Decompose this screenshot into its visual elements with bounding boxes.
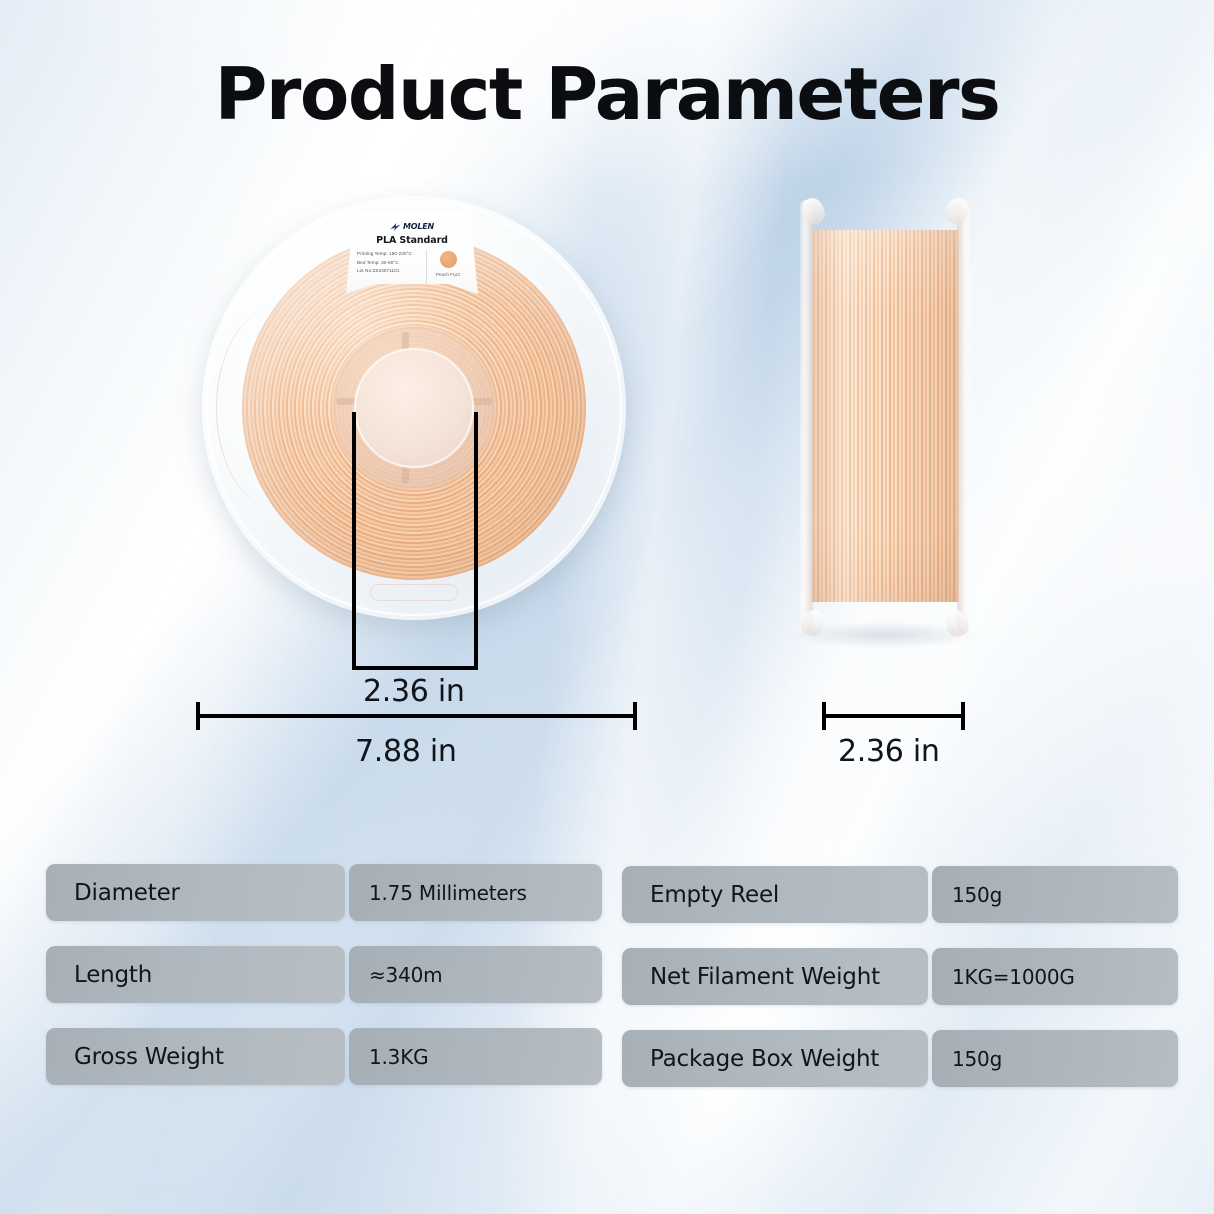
table-row: Diameter 1.75 Millimeters	[46, 864, 602, 921]
amolen-arrow-logo-icon	[390, 222, 401, 231]
spec-key-cell: Net Filament Weight	[622, 948, 928, 1005]
color-swatch-name: Peach Fuzz	[436, 272, 460, 277]
spool-handle-slot-bottom	[370, 584, 458, 601]
overall-width-cap-right	[633, 702, 637, 730]
spec-value-label: 150g	[952, 883, 1002, 907]
label-spec-printing-temp: Printing Temp: 190-230°C	[357, 250, 426, 259]
side-width-dimension-label: 2.36 in	[838, 734, 940, 769]
spec-key-label: Gross Weight	[74, 1044, 224, 1070]
spec-key-cell: Length	[46, 946, 345, 1003]
spec-value-label: ≈340m	[369, 963, 442, 987]
filament-spool-side-view	[800, 200, 970, 632]
spec-table-right: Empty Reel 150g Net Filament Weight 1KG=…	[622, 866, 1178, 1112]
spec-key-cell: Package Box Weight	[622, 1030, 928, 1087]
brand-name: MOLEN	[403, 222, 434, 231]
spool-flange-edge-right	[957, 200, 970, 632]
label-body: Printing Temp: 190-230°C Bed Temp: 30-60…	[355, 250, 469, 290]
label-product-name: PLA Standard	[355, 235, 469, 246]
color-swatch-circle	[440, 251, 457, 268]
spool-flange-edge-left	[800, 200, 813, 632]
overall-width-dimension-label: 7.88 in	[355, 734, 457, 769]
spec-value-label: 150g	[952, 1047, 1002, 1071]
spec-key-cell: Diameter	[46, 864, 345, 921]
table-row: Gross Weight 1.3KG	[46, 1028, 602, 1085]
spec-key-label: Empty Reel	[650, 882, 779, 908]
spec-value-label: 1.75 Millimeters	[369, 881, 527, 905]
label-spec-list: Printing Temp: 190-230°C Bed Temp: 30-60…	[355, 250, 427, 290]
spool-center-hole	[354, 348, 474, 468]
table-row: Length ≈340m	[46, 946, 602, 1003]
spec-value-cell: 150g	[932, 866, 1178, 923]
table-row: Net Filament Weight 1KG=1000G	[622, 948, 1178, 1005]
spec-value-cell: 1.3KG	[349, 1028, 602, 1085]
table-row: Empty Reel 150g	[622, 866, 1178, 923]
side-width-cap-left	[822, 702, 826, 730]
spec-key-label: Diameter	[74, 880, 180, 906]
side-width-cap-right	[961, 702, 965, 730]
spec-table-left: Diameter 1.75 Millimeters Length ≈340m G…	[46, 864, 602, 1110]
brand-logo: MOLEN	[355, 221, 469, 232]
spec-key-label: Package Box Weight	[650, 1046, 879, 1072]
label-spec-lot-no: Lot No:ZS24071101	[357, 267, 426, 276]
spec-value-cell: 150g	[932, 1030, 1178, 1087]
spool-product-label: MOLEN PLA Standard Printing Temp: 190-23…	[346, 212, 478, 294]
spec-value-cell: 1.75 Millimeters	[349, 864, 602, 921]
page-title: Product Parameters	[0, 58, 1214, 130]
overall-width-cap-left	[196, 702, 200, 730]
product-parameters-infographic: Product Parameters MOLEN PLA Standard	[0, 0, 1214, 1214]
filament-spool-front-view: MOLEN PLA Standard Printing Temp: 190-23…	[202, 196, 626, 620]
label-color-swatch-group: Peach Fuzz	[427, 250, 469, 290]
spec-value-label: 1KG=1000G	[952, 965, 1075, 989]
side-width-bar	[822, 714, 965, 718]
spec-value-cell: 1KG=1000G	[932, 948, 1178, 1005]
filament-coil-side-shading	[811, 230, 959, 602]
overall-width-bar	[196, 714, 637, 718]
inner-hole-bracket-bottom	[352, 666, 478, 670]
inner-hole-bracket-right	[474, 412, 478, 670]
inner-hole-bracket-left	[352, 412, 356, 670]
spool-side-shadow	[790, 622, 980, 648]
label-spec-bed-temp: Bed Temp: 30-60°C	[357, 259, 426, 268]
inner-hole-dimension-label: 2.36 in	[363, 674, 465, 709]
spec-value-cell: ≈340m	[349, 946, 602, 1003]
spec-key-label: Net Filament Weight	[650, 964, 880, 990]
spec-key-cell: Empty Reel	[622, 866, 928, 923]
spec-value-label: 1.3KG	[369, 1045, 428, 1069]
spec-key-label: Length	[74, 962, 152, 988]
spec-key-cell: Gross Weight	[46, 1028, 345, 1085]
table-row: Package Box Weight 150g	[622, 1030, 1178, 1087]
